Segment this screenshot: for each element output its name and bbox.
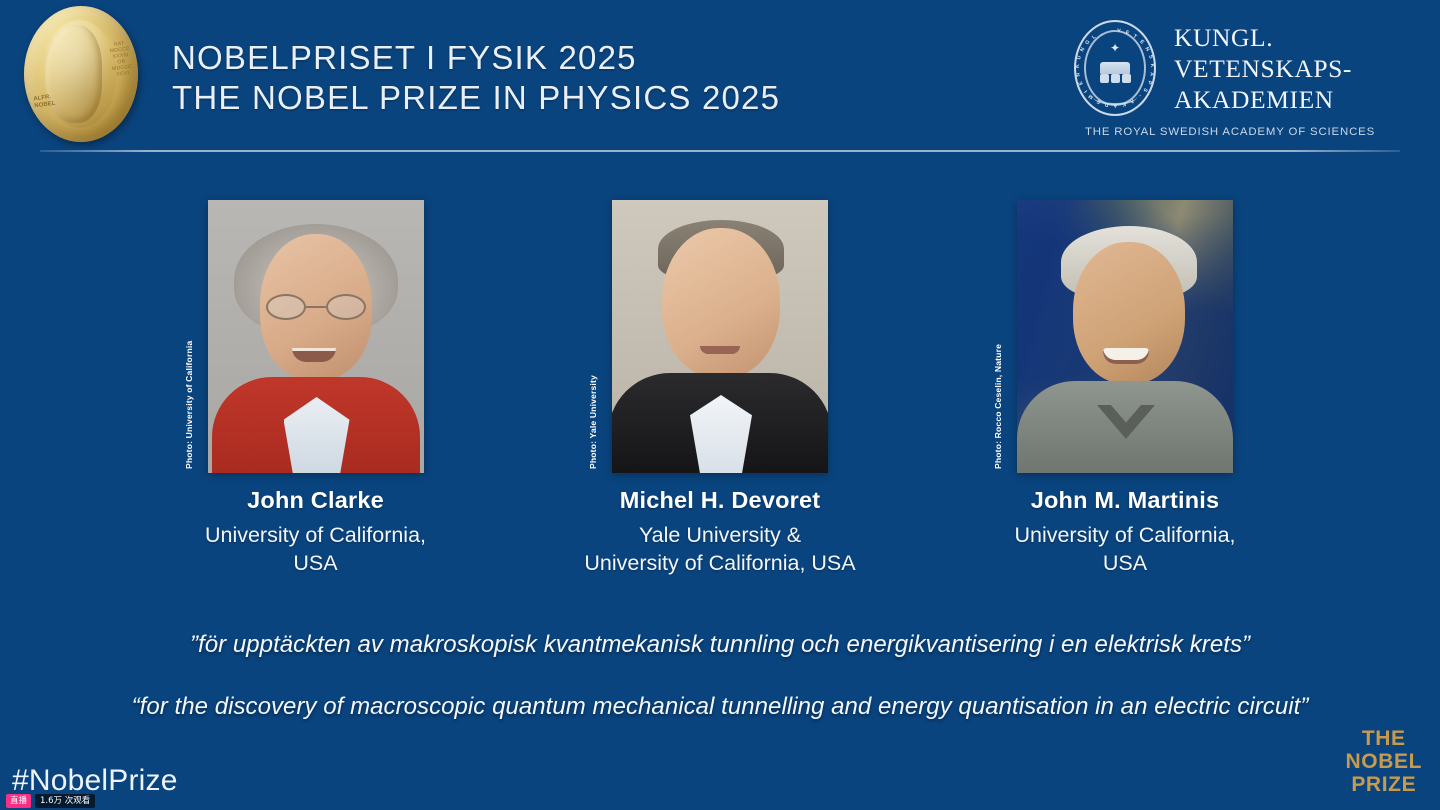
header-divider xyxy=(40,150,1400,152)
eyeglasses-icon xyxy=(266,294,366,320)
laureate-card-michel-h-devoret: Photo: Yale University Michel H. Devoret… xyxy=(515,196,925,577)
live-stream-badge: 直播 1.6万 次观看 xyxy=(6,794,95,808)
affiliation-line-1: Yale University & xyxy=(639,523,801,547)
laureate-name: Michel H. Devoret xyxy=(515,487,925,514)
laureate-name: John M. Martinis xyxy=(920,487,1330,514)
affiliation-line-1: University of California, xyxy=(205,523,426,547)
affiliation-line-2: USA xyxy=(293,551,337,575)
portrait-mouth xyxy=(292,348,336,362)
academy-name: KUNGL. VETENSKAPS- AKADEMIEN xyxy=(1174,22,1352,115)
logo-line-2: NOBEL xyxy=(1346,750,1423,773)
laureate-portrait-michel-h-devoret xyxy=(612,200,828,473)
live-indicator: 直播 xyxy=(6,794,31,808)
academy-name-line3: AKADEMIEN xyxy=(1174,84,1352,115)
academy-seal-icon: ✦ KUNGL. VETENSKAPS-AKADEMIEN xyxy=(1074,20,1156,116)
prize-citation: ”för upptäckten av makroskopisk kvantmek… xyxy=(0,628,1440,724)
academy-name-line1: KUNGL. xyxy=(1174,22,1352,53)
laureate-card-john-clarke: Photo: University of California John Cla… xyxy=(109,196,522,577)
hashtag-nobelprize: #NobelPrize xyxy=(12,764,178,798)
laureate-affiliation: University of California, USA xyxy=(920,521,1330,577)
laureate-photo-wrap: Photo: Rocco Ceselin, Nature xyxy=(1017,200,1233,473)
affiliation-line-2: University of California, USA xyxy=(584,551,855,575)
title-english: THE NOBEL PRIZE IN PHYSICS 2025 xyxy=(172,78,780,118)
prize-titles: NOBELPRISET I FYSIK 2025 THE NOBEL PRIZE… xyxy=(172,38,780,118)
citation-swedish: ”för upptäckten av makroskopisk kvantmek… xyxy=(0,628,1440,662)
medal-profile-relief xyxy=(45,25,102,123)
view-count: 1.6万 次观看 xyxy=(35,794,95,808)
academy-branding: ✦ KUNGL. VETENSKAPS-AKADEMIEN KUNGL. VET… xyxy=(1074,14,1386,144)
header: NATMDCCCXXXIIIOBMDCCCXCVI ALFR.NOBEL NOB… xyxy=(0,0,1440,152)
logo-line-3: PRIZE xyxy=(1346,773,1423,796)
seal-ring-text: KUNGL. VETENSKAPS-AKADEMIEN xyxy=(1076,22,1154,114)
laureate-photo-wrap: Photo: University of California xyxy=(208,200,424,473)
logo-line-1: THE xyxy=(1346,727,1423,750)
affiliation-line-2: USA xyxy=(1103,551,1147,575)
photo-credit: Photo: Yale University xyxy=(588,375,598,469)
laureate-affiliation: University of California, USA xyxy=(109,521,522,577)
academy-subtitle: THE ROYAL SWEDISH ACADEMY OF SCIENCES xyxy=(1074,126,1386,138)
title-swedish: NOBELPRISET I FYSIK 2025 xyxy=(172,38,780,78)
citation-english: “for the discovery of macroscopic quantu… xyxy=(0,690,1440,724)
photo-credit: Photo: University of California xyxy=(184,341,194,469)
portrait-head xyxy=(662,228,780,378)
nobel-prize-logo: THE NOBEL PRIZE xyxy=(1346,727,1423,796)
affiliation-line-1: University of California, xyxy=(1014,523,1235,547)
academy-name-line2: VETENSKAPS- xyxy=(1174,53,1352,84)
photo-credit: Photo: Rocco Ceselin, Nature xyxy=(993,344,1003,469)
laureate-portrait-john-clarke xyxy=(208,200,424,473)
laureate-photo-wrap: Photo: Yale University xyxy=(612,200,828,473)
laureate-card-john-m-martinis: Photo: Rocco Ceselin, Nature John M. Mar… xyxy=(920,196,1330,577)
laureate-portrait-john-m-martinis xyxy=(1017,200,1233,473)
portrait-mouth xyxy=(1103,348,1149,364)
laureate-affiliation: Yale University & University of Californ… xyxy=(515,521,925,577)
portrait-mouth xyxy=(700,346,740,354)
nobel-prize-announcement-slide: NATMDCCCXXXIIIOBMDCCCXCVI ALFR.NOBEL NOB… xyxy=(0,0,1440,810)
laureate-name: John Clarke xyxy=(109,487,522,514)
nobel-medal-icon: NATMDCCCXXXIIIOBMDCCCXCVI ALFR.NOBEL xyxy=(24,6,138,142)
medal-inscription: NATMDCCCXXXIIIOBMDCCCXCVI xyxy=(109,40,133,78)
